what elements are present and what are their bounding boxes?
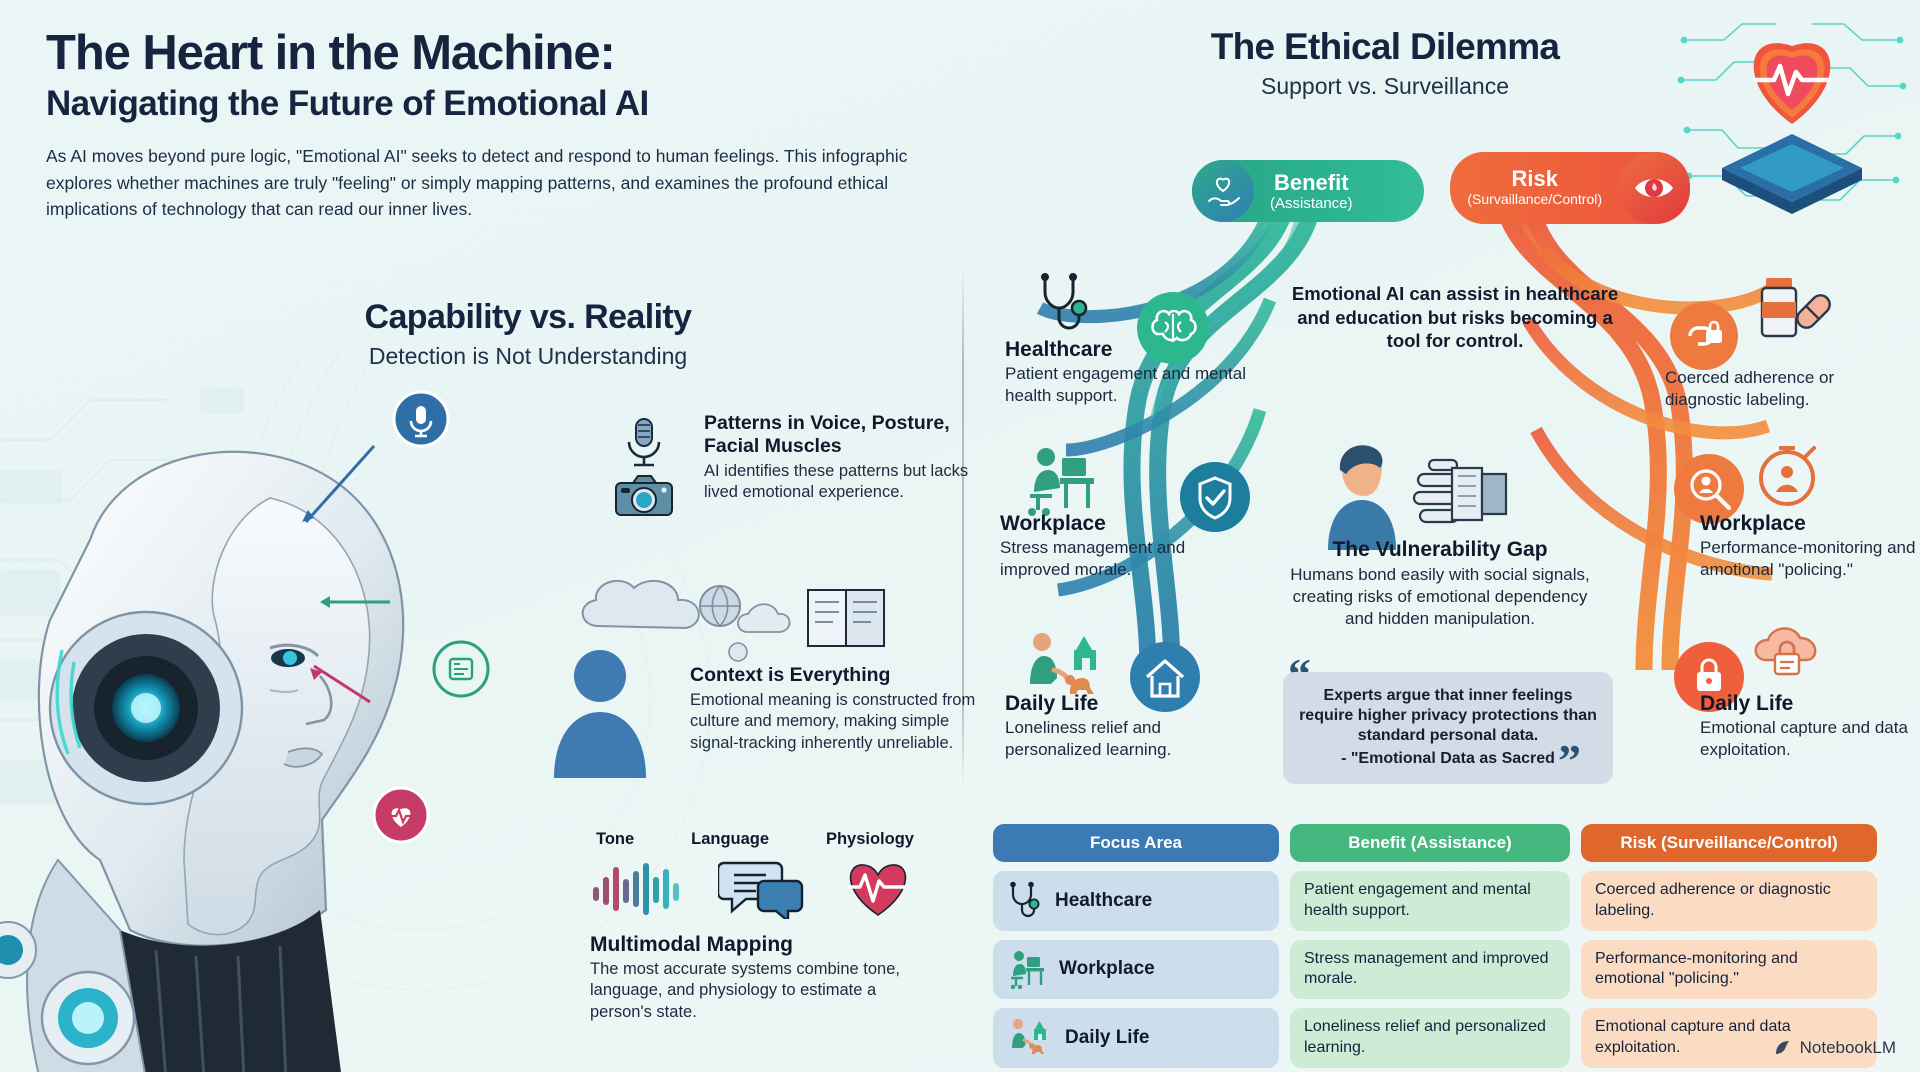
infographic-page: The Heart in the Machine: Navigating the… bbox=[0, 0, 1920, 1072]
person-head-icon bbox=[1322, 440, 1402, 550]
ethical-section-header: The Ethical Dilemma Support vs. Surveill… bbox=[1120, 26, 1650, 100]
brand-label: NotebookLM bbox=[1800, 1038, 1896, 1058]
chat-bubbles-icon bbox=[718, 857, 808, 919]
heart-in-hand-icon bbox=[1192, 160, 1254, 222]
multimodal-desc: The most accurate systems combine tone, … bbox=[590, 959, 920, 1023]
branch-risk-workplace: Workplace Performance-monitoring and amo… bbox=[1700, 512, 1920, 581]
heart-pulse-icon bbox=[838, 857, 918, 919]
page-title: The Heart in the Machine: bbox=[46, 28, 956, 79]
branch-benefit-healthcare-title: Healthcare bbox=[1005, 338, 1255, 361]
ethical-title: The Ethical Dilemma bbox=[1120, 26, 1650, 68]
table-cell-focus: Daily Life bbox=[993, 1008, 1279, 1068]
table-focus-label: Workplace bbox=[1059, 958, 1155, 980]
table-header-risk: Risk (Surveillance/Control) bbox=[1581, 824, 1877, 862]
capability-section-header: Capability vs. Reality Detection is Not … bbox=[268, 298, 788, 370]
branch-benefit-healthcare: Healthcare Patient engagement and mental… bbox=[1005, 338, 1255, 407]
quote-attribution: - "Emotional Data as Sacred bbox=[1299, 750, 1597, 768]
table-cell-focus: Healthcare bbox=[993, 871, 1279, 931]
robot-hand-icon bbox=[1410, 448, 1520, 540]
benefit-pill-line2: (Assistance) bbox=[1270, 196, 1353, 211]
branch-benefit-workplace: Workplace Stress management and improved… bbox=[1000, 512, 1250, 581]
branch-risk-dailylife-title: Daily Life bbox=[1700, 692, 1920, 715]
risk-pill-line1: Risk bbox=[1467, 168, 1602, 190]
microphone-icon bbox=[618, 414, 670, 470]
header: The Heart in the Machine: Navigating the… bbox=[46, 28, 956, 223]
table-focus-label: Daily Life bbox=[1065, 1027, 1149, 1049]
branch-benefit-healthcare-desc: Patient engagement and mental health sup… bbox=[1005, 363, 1255, 407]
intro-paragraph: As AI moves beyond pure logic, "Emotiona… bbox=[46, 143, 956, 223]
brand-footer: NotebookLM bbox=[1773, 1038, 1896, 1058]
stethoscope-icon bbox=[1007, 881, 1041, 921]
branch-benefit-dailylife-title: Daily Life bbox=[1005, 692, 1255, 715]
feature-patterns-icons bbox=[600, 412, 688, 520]
multimodal-title: Multimodal Mapping bbox=[590, 933, 920, 957]
label-language: Language bbox=[691, 830, 769, 849]
table-cell-benefit: Patient engagement and mental health sup… bbox=[1290, 871, 1570, 931]
stopwatch-person-icon bbox=[1748, 438, 1826, 510]
feature-context-desc: Emotional meaning is constructed from cu… bbox=[690, 690, 990, 754]
table-row: Workplace Stress management and improved… bbox=[993, 940, 1877, 1000]
branch-risk-workplace-desc: Performance-monitoring and amotional "po… bbox=[1700, 537, 1920, 581]
robot-head-illustration bbox=[0, 390, 530, 1072]
chain-lock-icon bbox=[1668, 300, 1740, 372]
label-physiology: Physiology bbox=[826, 830, 914, 849]
vulnerability-desc: Humans bond easily with social signals, … bbox=[1290, 564, 1590, 629]
eye-icon bbox=[1618, 152, 1690, 224]
camera-icon bbox=[613, 472, 675, 520]
benefit-pill[interactable]: Benefit (Assistance) bbox=[1192, 160, 1424, 222]
table-row: Daily Life Loneliness relief and persona… bbox=[993, 1008, 1877, 1068]
risk-pill-label: Risk (Survaillance/Control) bbox=[1451, 168, 1618, 207]
multimodal-icons bbox=[590, 857, 920, 919]
quote-close-mark: ” bbox=[1558, 738, 1581, 784]
ethical-subtitle: Support vs. Surveillance bbox=[1120, 73, 1650, 100]
branch-benefit-workplace-desc: Stress management and improved morale. bbox=[1000, 537, 1250, 581]
book-icon bbox=[808, 590, 884, 646]
branch-benefit-dailylife: Daily Life Loneliness relief and persona… bbox=[1005, 692, 1255, 761]
capability-subtitle: Detection is Not Understanding bbox=[268, 343, 788, 370]
person-with-dog-icon bbox=[1007, 1018, 1051, 1058]
quote-text: Experts argue that inner feelings requir… bbox=[1299, 686, 1597, 746]
vulnerability-title: The Vulnerability Gap bbox=[1290, 538, 1590, 562]
branch-risk-healthcare-desc: Coerced adherence or diagnostic labeling… bbox=[1665, 367, 1915, 411]
waveform-icon bbox=[592, 860, 688, 916]
table-header-focus: Focus Area bbox=[993, 824, 1279, 862]
capability-title: Capability vs. Reality bbox=[268, 298, 788, 337]
desk-worker-icon bbox=[1007, 949, 1045, 989]
feature-patterns-text: Patterns in Voice, Posture, Facial Muscl… bbox=[704, 412, 1004, 504]
table-cell-focus: Workplace bbox=[993, 940, 1279, 1000]
table-header-row: Focus Area Benefit (Assistance) Risk (Su… bbox=[993, 824, 1877, 862]
table-cell-risk: Performance-monitoring and emotional "po… bbox=[1581, 940, 1877, 1000]
table-header-benefit: Benefit (Assistance) bbox=[1290, 824, 1570, 862]
multimodal-section: Tone Language Physiology bbox=[590, 830, 920, 1023]
benefit-pill-label: Benefit (Assistance) bbox=[1254, 172, 1369, 211]
cloud-lock-icon bbox=[1748, 620, 1826, 692]
branch-benefit-workplace-title: Workplace bbox=[1000, 512, 1250, 535]
desk-worker-icon bbox=[1020, 444, 1100, 516]
notebooklm-logo-icon bbox=[1773, 1038, 1793, 1058]
page-subtitle: Navigating the Future of Emotional AI bbox=[46, 84, 956, 123]
label-tone: Tone bbox=[596, 830, 634, 849]
vulnerability-gap: The Vulnerability Gap Humans bond easily… bbox=[1290, 538, 1590, 629]
table-cell-benefit: Stress management and improved morale. bbox=[1290, 940, 1570, 1000]
table-row: Healthcare Patient engagement and mental… bbox=[993, 871, 1877, 931]
comparison-table: Focus Area Benefit (Assistance) Risk (Su… bbox=[993, 824, 1877, 1072]
risk-pill-line2: (Survaillance/Control) bbox=[1467, 192, 1602, 207]
benefit-pill-line1: Benefit bbox=[1270, 172, 1353, 194]
feature-patterns-desc: AI identifies these patterns but lacks l… bbox=[704, 461, 1004, 504]
branch-risk-dailylife: Daily Life Emotional capture and data ex… bbox=[1700, 692, 1920, 761]
risk-pill[interactable]: Risk (Survaillance/Control) bbox=[1450, 152, 1690, 224]
feature-patterns-title: Patterns in Voice, Posture, Facial Muscl… bbox=[704, 412, 1004, 458]
stethoscope-icon bbox=[1035, 272, 1091, 334]
branch-benefit-dailylife-desc: Loneliness relief and personalized learn… bbox=[1005, 717, 1255, 761]
table-cell-benefit: Loneliness relief and personalized learn… bbox=[1290, 1008, 1570, 1068]
feature-context-title: Context is Everything bbox=[690, 664, 990, 687]
pill-bottle-icon bbox=[1752, 272, 1832, 350]
scan-node-icon bbox=[432, 640, 490, 698]
feature-patterns: Patterns in Voice, Posture, Facial Muscl… bbox=[600, 412, 1004, 520]
branch-risk-healthcare: Coerced adherence or diagnostic labeling… bbox=[1665, 365, 1915, 411]
person-silhouette-icon bbox=[540, 640, 660, 780]
branch-risk-workplace-title: Workplace bbox=[1700, 512, 1920, 535]
table-focus-label: Healthcare bbox=[1055, 890, 1152, 912]
table-cell-risk: Coerced adherence or diagnostic labeling… bbox=[1581, 871, 1877, 931]
heart-pulse-node-icon bbox=[372, 786, 430, 844]
multimodal-labels: Tone Language Physiology bbox=[590, 830, 920, 849]
microphone-node-icon bbox=[392, 390, 450, 448]
branch-risk-dailylife-desc: Emotional capture and data exploitation. bbox=[1700, 717, 1920, 761]
center-message: Emotional AI can assist in healthcare an… bbox=[1290, 282, 1620, 353]
